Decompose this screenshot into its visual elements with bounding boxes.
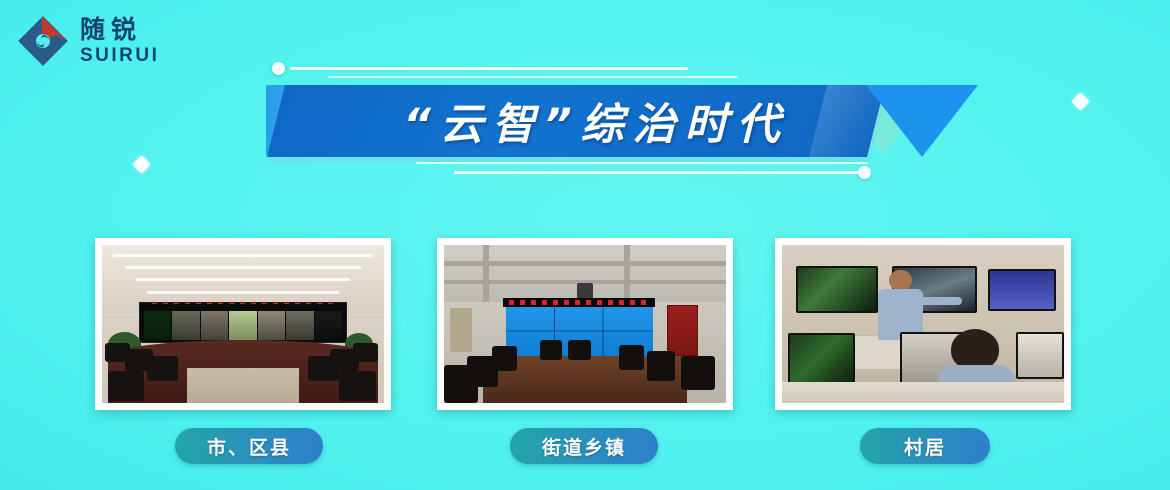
card-city-district[interactable]: 市、区县 (95, 238, 391, 410)
photo-command-center (102, 245, 384, 403)
brand-wordmark: 随锐 SUIRUI (80, 17, 159, 65)
photo-frame-2 (437, 238, 733, 410)
decor-diamond-left (132, 155, 150, 173)
title-banner: “云智”综治时代 (258, 58, 958, 188)
brand-name-en: SUIRUI (80, 46, 159, 65)
card-village-residence[interactable]: 村居 (775, 238, 1071, 410)
decor-dot-top-left (272, 62, 285, 75)
banner-right-triangle (866, 85, 978, 157)
brand-logo: 随锐 SUIRUI (16, 14, 159, 68)
brand-name-cn: 随锐 (80, 17, 159, 42)
card-street-township[interactable]: 街道乡镇 (437, 238, 733, 410)
page-title: “云智”综治时代 (336, 88, 856, 154)
photo-frame-1 (95, 238, 391, 410)
card-label-village-residence[interactable]: 村居 (860, 428, 990, 464)
decor-line-top-1 (290, 67, 688, 70)
card-label-city-district[interactable]: 市、区县 (175, 428, 323, 464)
photo-frame-3 (775, 238, 1071, 410)
card-gallery: 市、区县 (0, 238, 1170, 478)
suirui-pinwheel-logo-icon (16, 14, 70, 68)
decor-diamond-right (1071, 92, 1089, 110)
card-label-street-township[interactable]: 街道乡镇 (510, 428, 658, 464)
photo-township-meeting-room (444, 245, 726, 403)
decor-line-bottom-2 (454, 171, 860, 174)
decor-line-top-2 (328, 76, 738, 78)
photo-monitoring-station (782, 245, 1064, 403)
decor-dot-bottom-right (858, 166, 871, 179)
decor-line-bottom-1 (416, 162, 868, 164)
